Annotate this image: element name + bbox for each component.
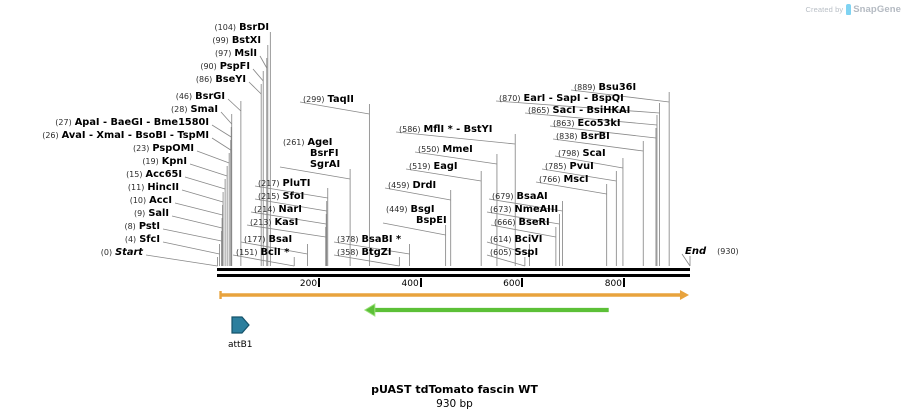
- feature-arrows: [0, 0, 909, 418]
- sequence-length-label: 930 bp: [0, 398, 909, 410]
- page-title: pUAST tdTomato fascin WT: [0, 383, 909, 396]
- attb1-label: attB1: [228, 340, 252, 350]
- attb1-feature-arrow[interactable]: [231, 314, 251, 338]
- map-footer: pUAST tdTomato fascin WT 930 bp: [0, 383, 909, 410]
- plasmid-map-canvas: Created by SnapGene (0) Start (4) SfcI (…: [0, 0, 909, 418]
